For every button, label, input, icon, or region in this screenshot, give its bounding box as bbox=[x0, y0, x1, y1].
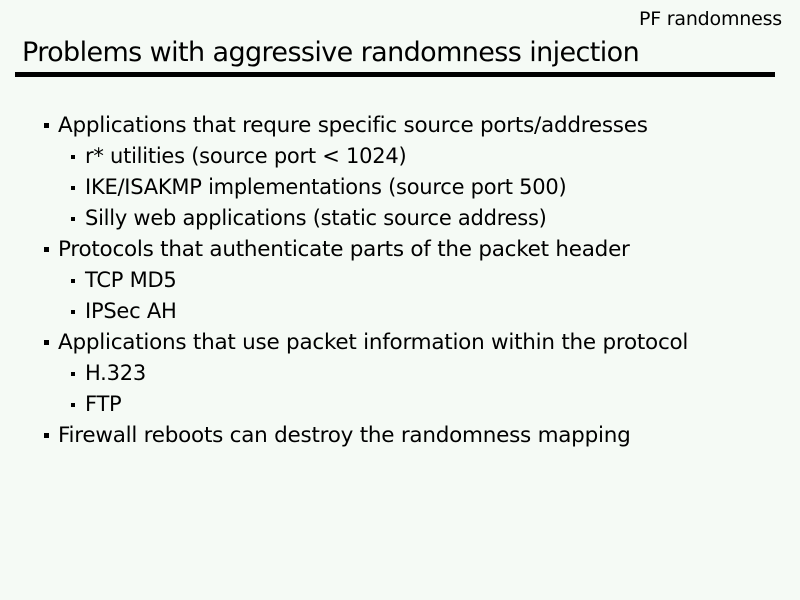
bullet-item-label: FTP bbox=[85, 389, 121, 420]
bullet-item: Silly web applications (static source ad… bbox=[0, 203, 800, 234]
square-bullet-icon bbox=[71, 403, 75, 407]
bullet-item: H.323 bbox=[0, 358, 800, 389]
bullet-item-label: Applications that requre specific source… bbox=[58, 110, 648, 141]
square-bullet-icon bbox=[71, 279, 75, 283]
bullet-item: Firewall reboots can destroy the randomn… bbox=[0, 420, 800, 451]
square-bullet-icon bbox=[44, 247, 49, 252]
square-bullet-icon bbox=[71, 310, 75, 314]
bullet-item-label: TCP MD5 bbox=[85, 265, 177, 296]
square-bullet-icon bbox=[44, 123, 49, 128]
slide-header-label: PF randomness bbox=[0, 8, 782, 30]
square-bullet-icon bbox=[71, 186, 75, 190]
square-bullet-icon bbox=[44, 433, 49, 438]
bullet-item-label: Firewall reboots can destroy the randomn… bbox=[58, 420, 630, 451]
bullet-item-label: Silly web applications (static source ad… bbox=[85, 203, 547, 234]
bullet-item: IPSec AH bbox=[0, 296, 800, 327]
bullet-item: IKE/ISAKMP implementations (source port … bbox=[0, 172, 800, 203]
presentation-slide: PF randomness Problems with aggressive r… bbox=[0, 0, 800, 600]
square-bullet-icon bbox=[71, 372, 75, 376]
bullet-item-label: H.323 bbox=[85, 358, 146, 389]
square-bullet-icon bbox=[44, 340, 49, 345]
bullet-item-label: IPSec AH bbox=[85, 296, 177, 327]
bullet-item-label: Protocols that authenticate parts of the… bbox=[58, 234, 630, 265]
bullet-item: FTP bbox=[0, 389, 800, 420]
bullet-item: Applications that use packet information… bbox=[0, 327, 800, 358]
square-bullet-icon bbox=[71, 217, 75, 221]
slide-bullet-list: Applications that requre specific source… bbox=[0, 110, 800, 451]
square-bullet-icon bbox=[71, 155, 75, 159]
bullet-item: Applications that requre specific source… bbox=[0, 110, 800, 141]
bullet-item-label: r* utilities (source port < 1024) bbox=[85, 141, 406, 172]
bullet-item: Protocols that authenticate parts of the… bbox=[0, 234, 800, 265]
bullet-item: r* utilities (source port < 1024) bbox=[0, 141, 800, 172]
slide-title: Problems with aggressive randomness inje… bbox=[22, 37, 639, 69]
bullet-item-label: Applications that use packet information… bbox=[58, 327, 688, 358]
bullet-item-label: IKE/ISAKMP implementations (source port … bbox=[85, 172, 566, 203]
title-divider-rule bbox=[15, 72, 775, 77]
bullet-item: TCP MD5 bbox=[0, 265, 800, 296]
